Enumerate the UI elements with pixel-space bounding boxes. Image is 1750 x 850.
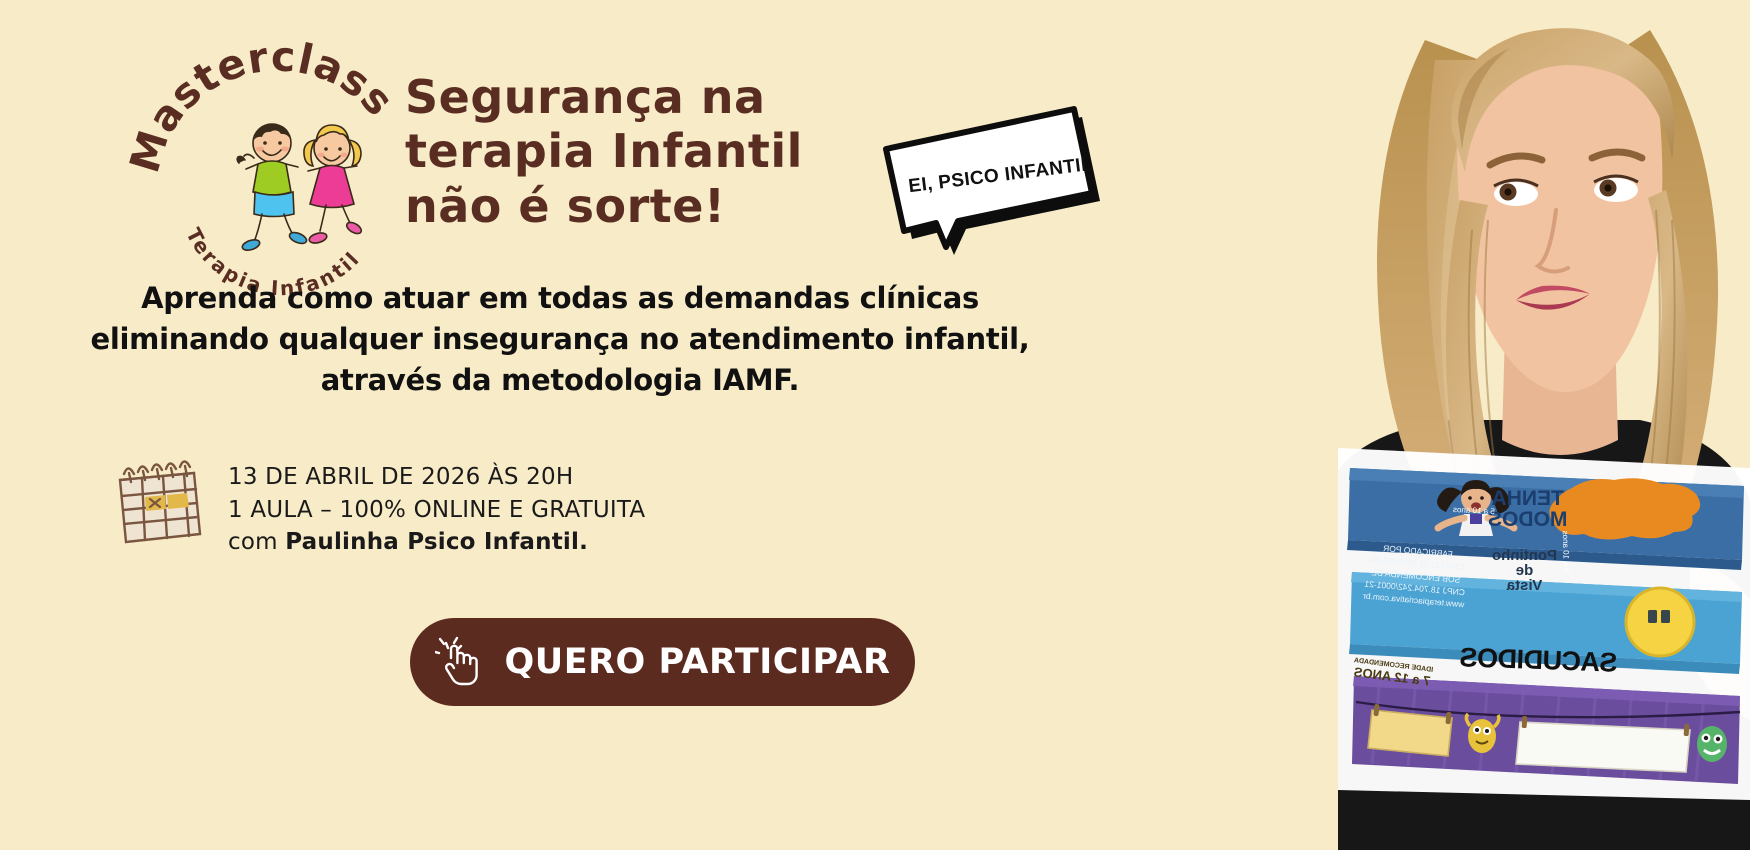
quero-participar-button[interactable]: QUERO PARTICIPAR — [410, 618, 915, 706]
subheadline-line-1: Aprenda como atuar em todas as demandas … — [60, 278, 1060, 319]
box-sacudidos-title: SACUDIDOS — [1460, 642, 1619, 678]
event-host-prefix: com — [228, 529, 285, 555]
landing-banner: Masterclass Terapia Infantil — [0, 0, 1750, 850]
event-host: com Paulinha Psico Infantil. — [228, 526, 645, 559]
girl-illustration — [304, 125, 363, 245]
masterclass-logo: Masterclass Terapia Infantil — [150, 48, 410, 253]
cta-label: QUERO PARTICIPAR — [505, 642, 891, 682]
event-host-name: Paulinha Psico Infantil. — [285, 529, 588, 555]
headline: Segurança na terapia Infantil não é sort… — [405, 70, 875, 233]
speech-bubble: EI, PSICO INFANTIL — [868, 105, 1108, 255]
box-pontinho-badge: PontinhodeVista — [1492, 548, 1557, 593]
subheadline-line-3: através da metodologia IAMF. — [60, 360, 1060, 401]
boy-illustration — [237, 124, 308, 252]
headline-line-2: terapia Infantil — [405, 124, 875, 178]
headline-line-1: Segurança na — [405, 70, 875, 124]
box-pontinho-fineprint: FABRICADO POR CNPJ 11.11.300/0001-88 SOB… — [1363, 541, 1470, 611]
event-date: 13 DE ABRIL DE 2026 ÀS 20H — [228, 461, 645, 494]
click-hand-cursor-icon — [435, 636, 483, 688]
subheadline-line-2: eliminando qualquer insegurança no atend… — [60, 319, 1060, 360]
box-tenha-modos-title: TENHAMODOS — [1488, 488, 1567, 530]
monster-green — [1697, 726, 1727, 762]
subheadline: Aprenda como atuar em todas as demandas … — [60, 278, 1060, 402]
event-format: 1 AULA – 100% ONLINE E GRATUITA — [228, 494, 645, 527]
headline-line-3: não é sorte! — [405, 179, 875, 233]
box-pontinho-age: 5 a 10 anos — [1561, 530, 1571, 572]
presenter-photo: TENHAMODOS 5 a 10 anos FABRICADO POR CNP… — [1220, 0, 1750, 850]
event-info: 13 DE ABRIL DE 2026 ÀS 20H 1 AULA – 100%… — [110, 452, 645, 559]
calendar-icon — [110, 452, 210, 547]
